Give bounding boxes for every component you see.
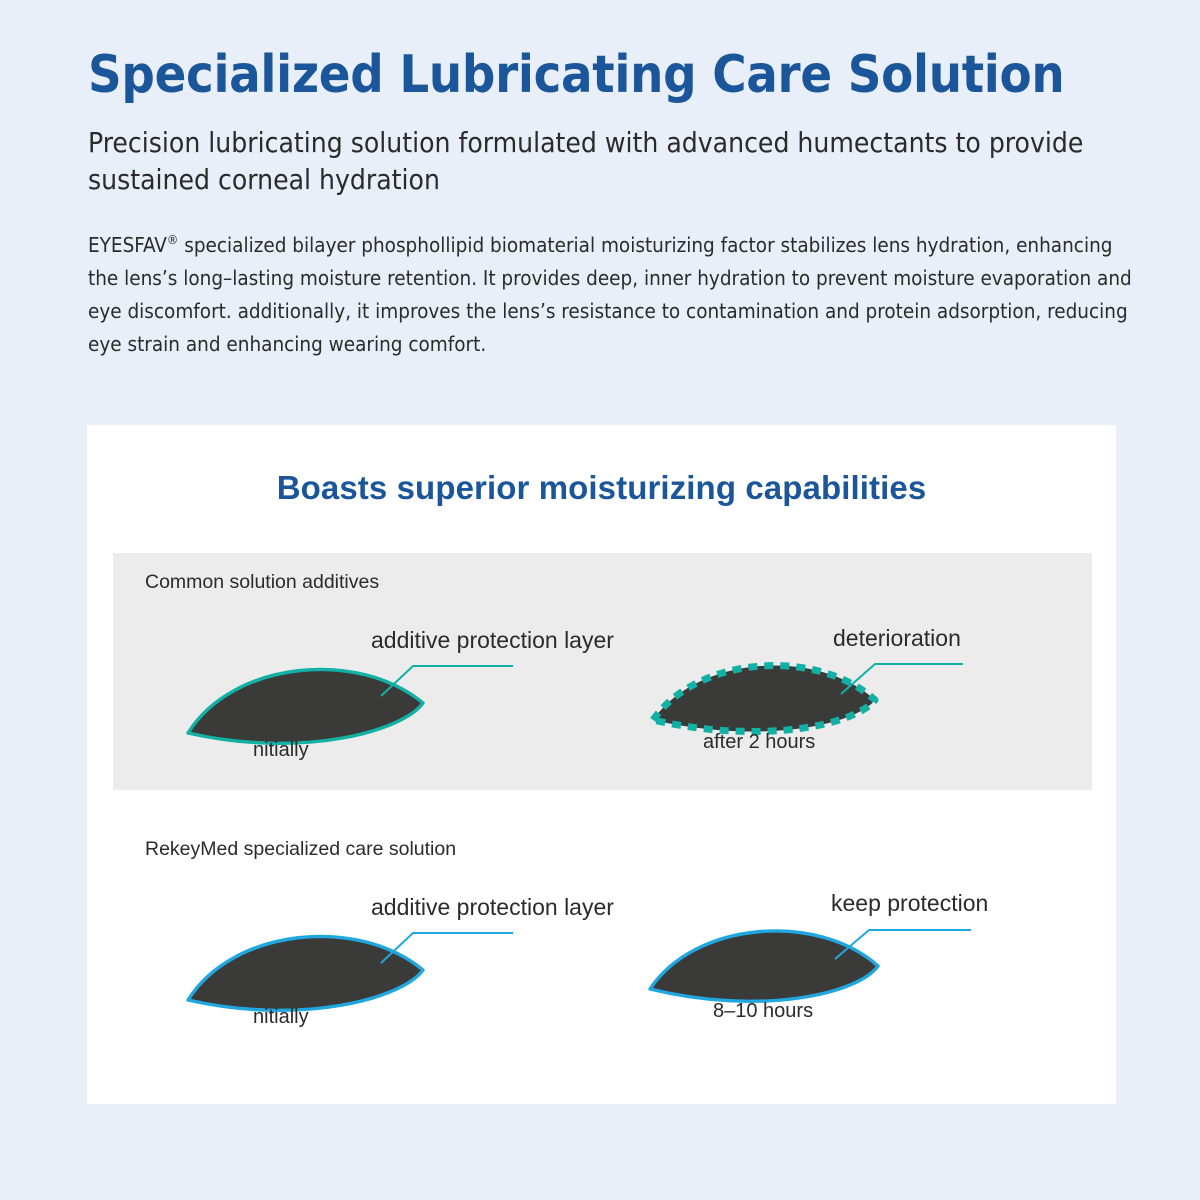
callout-label-common-after-2-hours: deterioration xyxy=(833,625,961,652)
lens-cell-rekeymed-8-10-hours: keep protection 8–10 hours xyxy=(603,820,1092,1057)
card-heading: Boasts superior moisturizing capabilitie… xyxy=(87,425,1116,507)
page-subtitle: Precision lubricating solution formulate… xyxy=(88,125,1148,199)
caption-common-after-2-hours: after 2 hours xyxy=(703,731,815,754)
comparison-card: Boasts superior moisturizing capabilitie… xyxy=(87,425,1116,1104)
lens-diagram-rekeymed-8-10-hours xyxy=(603,820,1092,1057)
body-paragraph-text: specialized bilayer phosphollipid biomat… xyxy=(88,233,1132,357)
body-paragraph: EYESFAV® specialized bilayer phosphollip… xyxy=(88,229,1136,362)
lens-diagram-common-after-2-hours xyxy=(603,553,1092,790)
callout-label-rekeymed-initial: additive protection layer xyxy=(371,894,614,921)
registered-mark-icon: ® xyxy=(167,232,178,247)
lens-diagram-rekeymed-initial xyxy=(113,820,602,1057)
caption-rekeymed-initial: nitially xyxy=(253,1006,309,1029)
lens-cell-rekeymed-initial: additive protection layer nitially xyxy=(113,820,602,1057)
lens-cell-common-after-2-hours: deterioration after 2 hours xyxy=(603,553,1092,790)
lens-shape xyxy=(188,936,423,1010)
lens-shape-deteriorated xyxy=(653,666,875,732)
caption-rekeymed-8-10-hours: 8–10 hours xyxy=(713,1000,813,1023)
callout-label-rekeymed-8-10-hours: keep protection xyxy=(831,890,988,917)
page-title: Specialized Lubricating Care Solution xyxy=(88,48,1148,103)
lens-diagram-common-initial xyxy=(113,553,602,790)
comparison-row-rekeymed-solution: RekeyMed specialized care solution addit… xyxy=(113,820,1092,1057)
brand-name: EYESFAV xyxy=(88,233,167,257)
poster-page: Specialized Lubricating Care Solution Pr… xyxy=(0,0,1200,1200)
header: Specialized Lubricating Care Solution Pr… xyxy=(88,48,1148,361)
callout-label-common-initial: additive protection layer xyxy=(371,627,614,654)
caption-common-initial: nitially xyxy=(253,739,309,762)
lens-shape xyxy=(650,931,878,1001)
lens-shape xyxy=(188,669,423,743)
comparison-row-common-additives: Common solution additives additive prote… xyxy=(113,553,1092,790)
lens-cell-common-initial: additive protection layer nitially xyxy=(113,553,602,790)
